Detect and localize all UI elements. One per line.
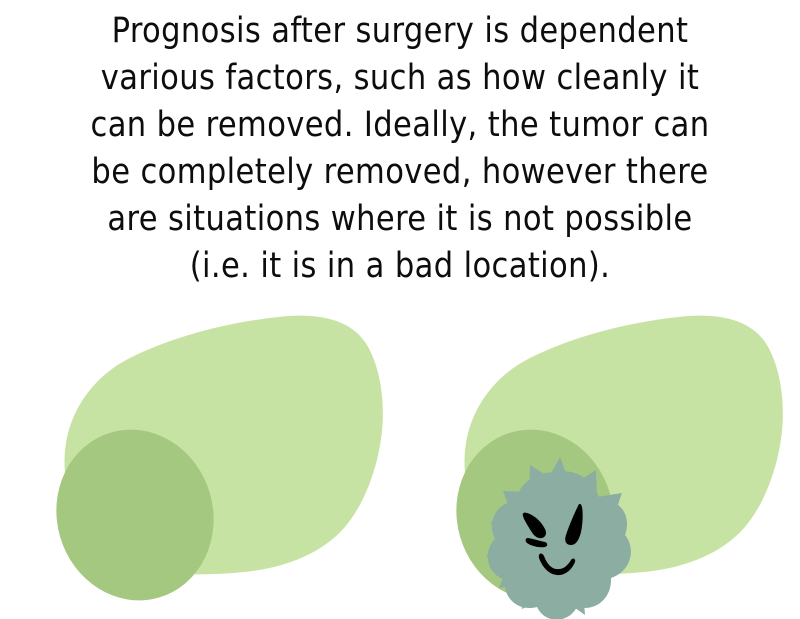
caption-line-6: (i.e. it is in a bad location). <box>12 243 788 290</box>
caption-line-5: are situations where it is not possible <box>12 196 788 243</box>
caption-line-3: can be removed. Ideally, the tumor can <box>12 102 788 149</box>
illustration-area <box>0 300 800 619</box>
slide-canvas: Prognosis after surgery is dependent var… <box>0 0 800 619</box>
caption-line-2: various factors, such as how cleanly it <box>12 55 788 102</box>
caption-line-4: be completely removed, however there <box>12 149 788 196</box>
caption-block: Prognosis after surgery is dependent var… <box>0 8 800 290</box>
tumor-tube-figure <box>436 316 783 619</box>
clean-tube-figure <box>36 316 383 619</box>
illustration-svg <box>0 300 800 619</box>
caption-line-1: Prognosis after surgery is dependent <box>12 8 788 55</box>
